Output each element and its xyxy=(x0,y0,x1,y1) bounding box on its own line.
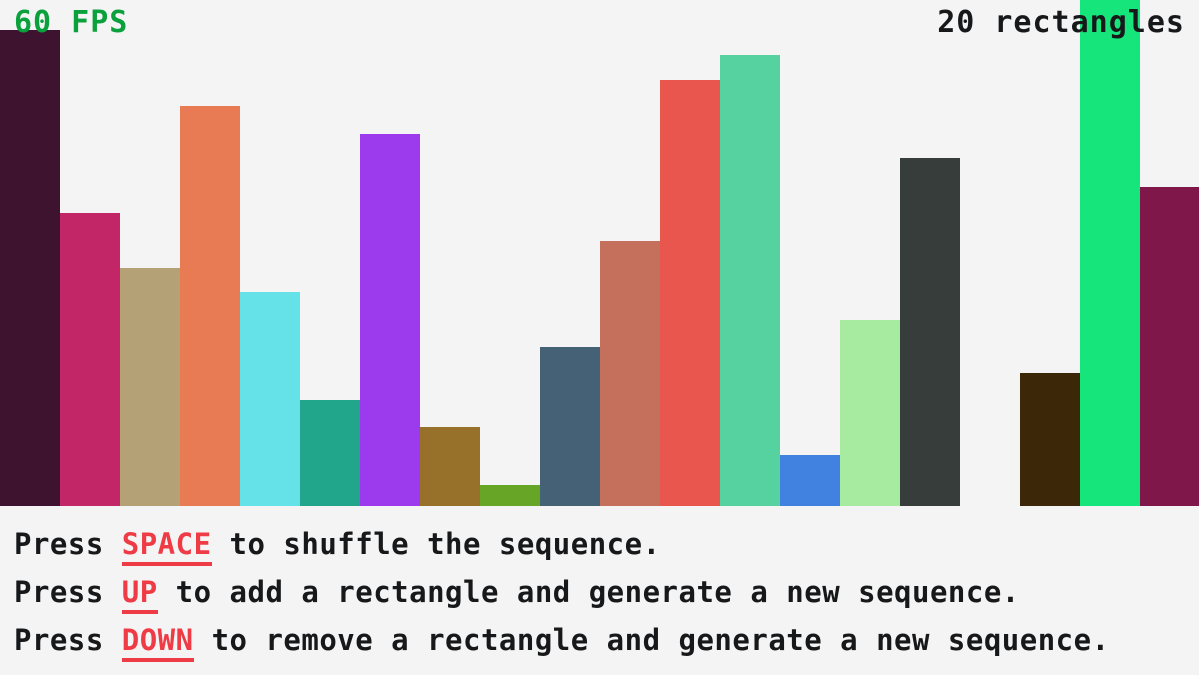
instruction-line-1: Press SPACE to shuffle the sequence. xyxy=(14,520,1199,568)
key-down[interactable]: DOWN xyxy=(122,623,194,662)
bar-3-tan xyxy=(120,268,180,506)
key-space[interactable]: SPACE xyxy=(122,527,212,566)
bar-1-dark-plum xyxy=(0,30,60,506)
bar-9-olive-green xyxy=(480,485,540,506)
instruction-suffix: to add a rectangle and generate a new se… xyxy=(158,575,1020,609)
bar-10-slate-blue xyxy=(540,347,600,506)
bar-7-purple xyxy=(360,134,420,506)
instruction-suffix: to shuffle the sequence. xyxy=(212,527,661,561)
app-root: 60 FPS 20 rectangles Press SPACE to shuf… xyxy=(0,0,1199,675)
bar-12-red xyxy=(660,80,720,506)
bar-13-mint-green xyxy=(720,55,780,506)
instructions-panel: Press SPACE to shuffle the sequence.Pres… xyxy=(0,506,1199,675)
bar-2-magenta xyxy=(60,213,120,506)
bar-20-dark-magenta xyxy=(1140,187,1199,506)
instruction-line-3: Press DOWN to remove a rectangle and gen… xyxy=(14,616,1199,664)
key-up[interactable]: UP xyxy=(122,575,158,614)
bar-11-brick xyxy=(600,241,660,506)
bar-16-charcoal xyxy=(900,158,960,506)
instruction-prefix: Press xyxy=(14,527,122,561)
instruction-suffix: to remove a rectangle and generate a new… xyxy=(194,623,1110,657)
instruction-prefix: Press xyxy=(14,575,122,609)
bar-14-blue xyxy=(780,455,840,506)
bar-4-orange xyxy=(180,106,240,506)
bar-8-brown xyxy=(420,427,480,506)
instruction-prefix: Press xyxy=(14,623,122,657)
bar-18-dark-brown xyxy=(1020,373,1080,506)
bar-5-cyan xyxy=(240,292,300,506)
instruction-line-2: Press UP to add a rectangle and generate… xyxy=(14,568,1199,616)
bar-6-teal xyxy=(300,400,360,506)
bar-chart-canvas xyxy=(0,0,1199,506)
bar-15-light-green xyxy=(840,320,900,506)
bar-19-bright-green xyxy=(1080,0,1140,506)
